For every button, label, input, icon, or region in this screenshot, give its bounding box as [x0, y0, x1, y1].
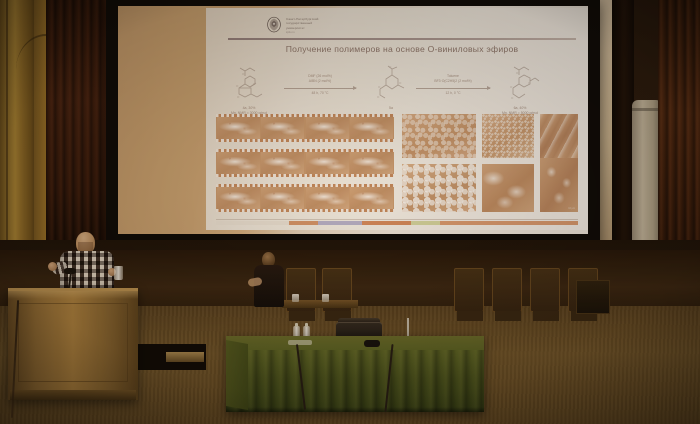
projection-screen-surface: Санкт-Петербургский государственный унив…: [118, 6, 588, 234]
svg-text:O: O: [253, 82, 256, 86]
svg-text:O: O: [510, 85, 513, 89]
chair: [454, 268, 484, 312]
org-url: spbu.ru: [286, 31, 318, 35]
step2-conditions: 12 h, 0 °C: [414, 91, 492, 96]
lectern-base: [10, 390, 136, 400]
scale-bar-label: 10 µm: [568, 207, 575, 210]
filmstrip-frame: [261, 152, 304, 174]
filmstrip-frame: [217, 152, 260, 174]
slide-title: Получение полимеров на основе О-виниловы…: [228, 44, 576, 54]
chair: [492, 268, 522, 312]
footer-seg-2: [318, 221, 363, 225]
sem-cracked-surface: 10 µm: [540, 158, 578, 212]
chair: [530, 268, 560, 312]
cup: [322, 294, 329, 302]
step1-conditions: 48 h, 70 °C: [282, 91, 358, 96]
sem-rough-aggregate: [482, 164, 534, 212]
filmstrip-frame: [261, 187, 304, 209]
footer-seg-4: [411, 221, 439, 225]
svg-text:O: O: [516, 71, 519, 75]
filmstrip-frame: [350, 152, 393, 174]
slide-footer-rule: [216, 219, 578, 220]
footer-seg-0: [216, 221, 289, 225]
filmstrip-row-1: [216, 114, 394, 142]
cup: [292, 294, 299, 302]
right-dark-recess: [612, 0, 634, 252]
svg-text:O: O: [377, 95, 380, 99]
svg-text:O: O: [236, 84, 239, 88]
svg-text:O: O: [528, 81, 531, 85]
slide-title-rule: [228, 38, 576, 40]
presenter-left-hand: [48, 262, 57, 271]
alcove-ledge: [166, 352, 204, 362]
sem-smooth-film: [540, 114, 578, 158]
step1-reagent-line-2: AIBN (2 mol%): [282, 79, 358, 84]
lecture-hall-photo: Санкт-Петербургский государственный унив…: [0, 0, 700, 424]
product-mid-caption: 5a: [356, 106, 426, 111]
filmstrip-frame: [350, 187, 393, 209]
slide-logo-text: Санкт-Петербургский государственный унив…: [286, 16, 318, 36]
presentation-slide: Санкт-Петербургский государственный унив…: [206, 8, 588, 230]
spbu-coat-of-arms-icon: [266, 16, 282, 34]
reaction-arrow-step-1: [284, 88, 356, 89]
slide-logo-block: Санкт-Петербургский государственный унив…: [266, 16, 318, 36]
slide-image-grids: 10 µm: [216, 114, 578, 212]
filmstrip-row-2: [216, 149, 394, 177]
loudspeaker-cabinet: [576, 280, 610, 314]
filmstrip-frame: [217, 117, 260, 139]
svg-text:O: O: [237, 95, 240, 99]
product-mid-label: 5a: [356, 106, 426, 111]
footer-seg-5: [440, 221, 578, 225]
green-velvet-tablecloth: [226, 336, 484, 412]
step2-reagents: Toluene BF3·O(C2H5)2 (2 mol%): [414, 74, 492, 83]
svg-text:O: O: [242, 72, 245, 76]
org-line-3: университет: [286, 26, 318, 30]
right-curtain: [658, 0, 700, 252]
molecule-structure-reactant: OOO O: [226, 62, 272, 108]
footer-seg-3: [362, 221, 411, 225]
filmstrip-row-3: [216, 184, 394, 212]
wooden-lectern: [8, 288, 138, 400]
sem-honeycomb-pores: [402, 114, 476, 158]
reaction-arrow-step-2: [416, 88, 490, 89]
svg-text:O: O: [399, 81, 402, 85]
attendee-body: [254, 265, 284, 307]
left-curtain: [46, 0, 108, 252]
reaction-scheme: OOO O OOO: [216, 60, 578, 114]
drinking-glass-on-podium: [114, 266, 123, 280]
sem-bubble-foam: [402, 164, 476, 212]
slide-footer-bar: [216, 221, 578, 225]
sem-fine-pores: [482, 114, 534, 158]
projection-screen-frame: Санкт-Петербургский государственный унив…: [106, 0, 600, 252]
filmstrip-frame: [261, 117, 304, 139]
lectern-top-edge: [8, 291, 138, 299]
cable-connector-block: [364, 340, 380, 347]
step1-reagents: DMF (26 mol%) AIBN (2 mol%): [282, 74, 358, 83]
svg-text:O: O: [511, 96, 514, 100]
footer-seg-1: [289, 221, 317, 225]
tablecloth-left-return: [226, 340, 248, 410]
filmstrip-frame: [350, 117, 393, 139]
step2-reagent-line-2: BF3·O(C2H5)2 (2 mol%): [414, 79, 492, 84]
molecule-structure-product: OOO O: [498, 62, 544, 108]
seated-attendee: [252, 252, 288, 310]
tablecloth-pleats: [226, 350, 484, 412]
tablecloth-bottom-edge: [226, 407, 484, 412]
bottle-tray: [288, 340, 312, 345]
filmstrip-frame: [306, 152, 349, 174]
molecule-structure-intermediate: OOO O: [368, 62, 414, 108]
filmstrip-frame: [306, 187, 349, 209]
filmstrip-frame: [306, 117, 349, 139]
filmstrip-frame: [217, 187, 260, 209]
